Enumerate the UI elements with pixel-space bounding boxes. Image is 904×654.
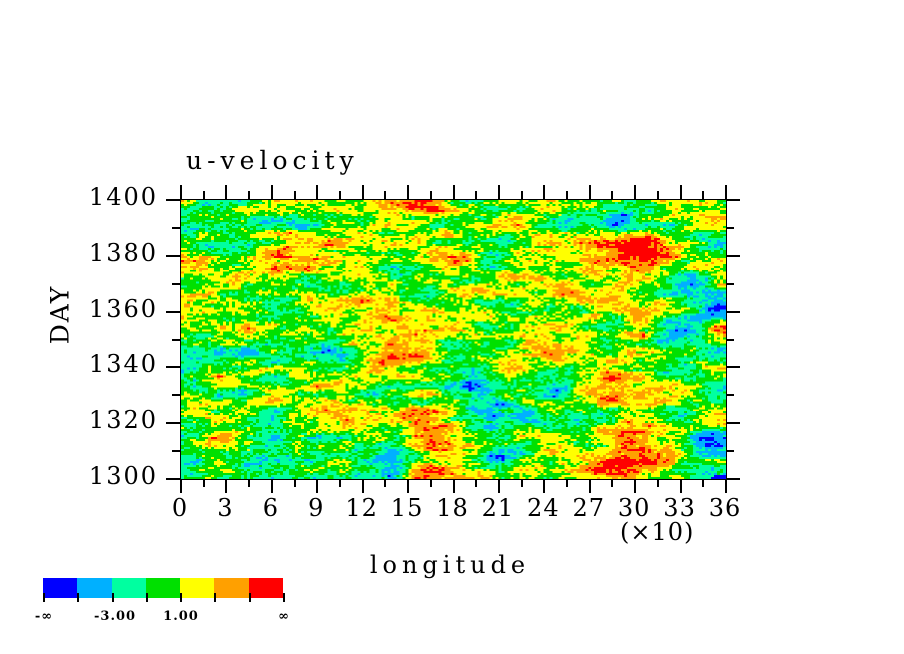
colorbar-label: -3.00 (94, 609, 132, 624)
x-major-tick (225, 185, 227, 199)
y-minor-tick (172, 227, 180, 229)
page-title: u-velocity (186, 146, 359, 175)
x-minor-tick (657, 191, 659, 199)
x-minor-tick (475, 191, 477, 199)
x-minor-tick (475, 479, 477, 487)
y-major-tick (166, 366, 180, 368)
colorbar (43, 578, 283, 598)
y-major-tick (726, 366, 740, 368)
y-tick-label: 1380 (20, 239, 158, 267)
x-minor-tick (521, 479, 523, 487)
x-major-tick (225, 479, 227, 493)
x-major-tick (316, 479, 318, 493)
x-major-tick (180, 185, 182, 199)
y-minor-tick (172, 339, 180, 341)
x-minor-tick (702, 479, 704, 487)
colorbar-band-orange (214, 578, 248, 598)
y-minor-tick (172, 450, 180, 452)
colorbar-label: ∞ (265, 609, 303, 624)
colorbar-tick (146, 593, 148, 602)
x-major-tick (316, 185, 318, 199)
x-axis-label: longitude (300, 551, 600, 579)
y-major-tick (166, 478, 180, 480)
x-minor-tick (339, 191, 341, 199)
colorbar-tick (43, 593, 45, 602)
y-minor-tick (726, 227, 734, 229)
x-minor-tick (702, 191, 704, 199)
colorbar-tick (77, 593, 79, 602)
x-tick-label: 36 (695, 494, 755, 522)
y-tick-label: 1340 (20, 350, 158, 378)
x-major-tick (498, 185, 500, 199)
x-minor-tick (430, 191, 432, 199)
x-minor-tick (611, 479, 613, 487)
y-major-tick (166, 255, 180, 257)
colorbar-label: -∞ (25, 609, 63, 624)
x-minor-tick (521, 191, 523, 199)
x-major-tick (271, 185, 273, 199)
x-major-tick (498, 479, 500, 493)
y-tick-label: 1360 (20, 295, 158, 323)
y-major-tick (726, 478, 740, 480)
y-major-tick (166, 311, 180, 313)
x-major-tick (634, 185, 636, 199)
colorbar-tick (112, 593, 114, 602)
heatmap-field (181, 200, 726, 479)
x-minor-tick (657, 479, 659, 487)
y-axis-label: DAY (46, 280, 75, 350)
y-minor-tick (172, 394, 180, 396)
colorbar-band-yellow (180, 578, 214, 598)
y-major-tick (166, 199, 180, 201)
x-minor-tick (248, 191, 250, 199)
y-minor-tick (726, 394, 734, 396)
x-major-tick (680, 185, 682, 199)
x-minor-tick (566, 191, 568, 199)
x-minor-tick (384, 191, 386, 199)
x-minor-tick (566, 479, 568, 487)
colorbar-band-red (249, 578, 283, 598)
heatmap-plot-area (180, 199, 727, 480)
x-axis-multiplier: (×10) (620, 518, 694, 546)
x-minor-tick (294, 479, 296, 487)
x-major-tick (589, 479, 591, 493)
x-minor-tick (339, 479, 341, 487)
y-tick-label: 1300 (20, 462, 158, 490)
colorbar-band-blue (43, 578, 77, 598)
x-major-tick (362, 479, 364, 493)
x-minor-tick (203, 479, 205, 487)
colorbar-label: 1.00 (162, 609, 200, 624)
colorbar-tick (214, 593, 216, 602)
colorbar-tick (180, 593, 182, 602)
colorbar-band-green (146, 578, 180, 598)
x-major-tick (407, 185, 409, 199)
x-major-tick (180, 479, 182, 493)
x-major-tick (543, 479, 545, 493)
y-minor-tick (726, 283, 734, 285)
y-major-tick (726, 255, 740, 257)
y-minor-tick (172, 283, 180, 285)
x-minor-tick (294, 191, 296, 199)
y-minor-tick (726, 339, 734, 341)
y-tick-label: 1320 (20, 406, 158, 434)
x-major-tick (407, 479, 409, 493)
y-major-tick (726, 199, 740, 201)
x-minor-tick (611, 191, 613, 199)
x-major-tick (543, 185, 545, 199)
x-major-tick (634, 479, 636, 493)
x-major-tick (453, 479, 455, 493)
colorbar-tick (283, 593, 285, 602)
colorbar-band-spring-green (112, 578, 146, 598)
y-tick-label: 1400 (20, 183, 158, 211)
x-minor-tick (384, 479, 386, 487)
x-major-tick (362, 185, 364, 199)
x-major-tick (453, 185, 455, 199)
x-major-tick (680, 479, 682, 493)
x-minor-tick (203, 191, 205, 199)
x-minor-tick (430, 479, 432, 487)
x-major-tick (725, 185, 727, 199)
y-minor-tick (726, 450, 734, 452)
x-major-tick (589, 185, 591, 199)
x-major-tick (271, 479, 273, 493)
y-major-tick (726, 422, 740, 424)
y-major-tick (166, 422, 180, 424)
x-major-tick (725, 479, 727, 493)
chart-figure: u-velocity 130013201340136013801400 0369… (0, 0, 904, 654)
colorbar-band-cyan (77, 578, 111, 598)
y-major-tick (726, 311, 740, 313)
x-minor-tick (248, 479, 250, 487)
colorbar-tick (249, 593, 251, 602)
